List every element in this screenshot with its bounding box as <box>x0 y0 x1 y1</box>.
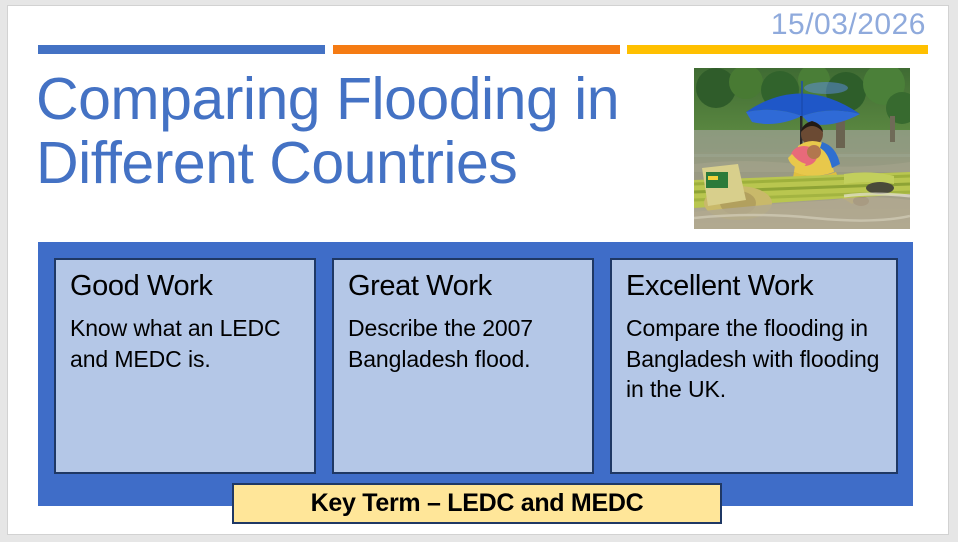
objective-body: Know what an LEDC and MEDC is. <box>70 313 302 374</box>
objective-heading: Great Work <box>348 270 580 303</box>
accent-bar-blue <box>38 45 325 54</box>
objectives-panel: Good Work Know what an LEDC and MEDC is.… <box>38 242 913 506</box>
objective-box-great-work: Great Work Describe the 2007 Bangladesh … <box>332 258 594 474</box>
flood-photo <box>694 68 910 229</box>
objective-heading: Good Work <box>70 270 302 303</box>
objective-box-excellent-work: Excellent Work Compare the flooding in B… <box>610 258 898 474</box>
key-term-banner: Key Term – LEDC and MEDC <box>232 483 722 524</box>
objective-body: Describe the 2007 Bangladesh flood. <box>348 313 580 374</box>
key-term-label: Key Term – LEDC and MEDC <box>311 489 644 518</box>
objective-heading: Excellent Work <box>626 270 884 303</box>
slide-date: 15/03/2026 <box>771 8 926 42</box>
objective-body: Compare the flooding in Bangladesh with … <box>626 313 884 404</box>
accent-bar-yellow <box>627 45 928 54</box>
accent-bar-orange <box>333 45 620 54</box>
slide-canvas: 15/03/2026 Comparing Flooding in Differe… <box>8 6 948 534</box>
slide-frame: 15/03/2026 Comparing Flooding in Differe… <box>0 0 958 542</box>
slide-title: Comparing Flooding in Different Countrie… <box>36 68 686 195</box>
objective-box-good-work: Good Work Know what an LEDC and MEDC is. <box>54 258 316 474</box>
